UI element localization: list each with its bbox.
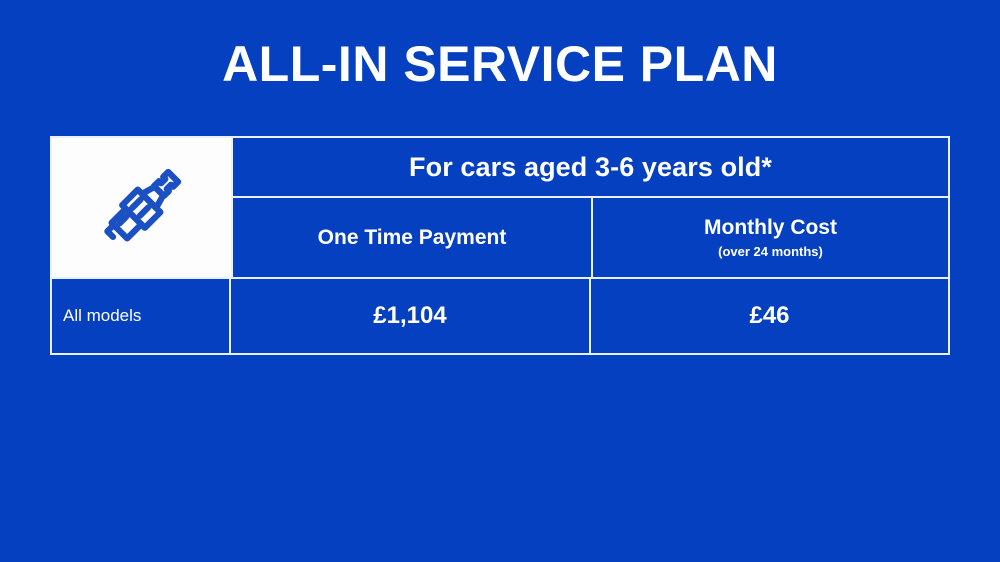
column-headers: One Time Payment Monthly Cost (over 24 m… [233,198,948,277]
page-title: ALL-IN SERVICE PLAN [0,38,1000,91]
column-header-monthly-cost-sublabel: (over 24 months) [718,244,823,260]
spark-plug-icon-cell [52,138,231,277]
service-plan-table: For cars aged 3-6 years old* One Time Pa… [50,136,950,355]
column-header-one-time-payment-label: One Time Payment [318,225,507,250]
slide-canvas: ALL-IN SERVICE PLAN [0,0,1000,562]
column-header-one-time-payment: One Time Payment [233,198,593,277]
table-row-label: All models [52,279,231,353]
table-cell-one-time-payment: £1,104 [231,279,591,353]
table-header-right: For cars aged 3-6 years old* One Time Pa… [231,138,948,277]
table-cell-monthly-cost: £46 [591,279,948,353]
table-header-section: For cars aged 3-6 years old* One Time Pa… [52,138,948,277]
column-header-monthly-cost: Monthly Cost (over 24 months) [593,198,948,277]
column-header-monthly-cost-label: Monthly Cost [704,215,837,240]
spark-plug-icon [90,156,194,260]
age-banner: For cars aged 3-6 years old* [233,138,948,198]
table-row: All models £1,104 £46 [52,277,948,353]
